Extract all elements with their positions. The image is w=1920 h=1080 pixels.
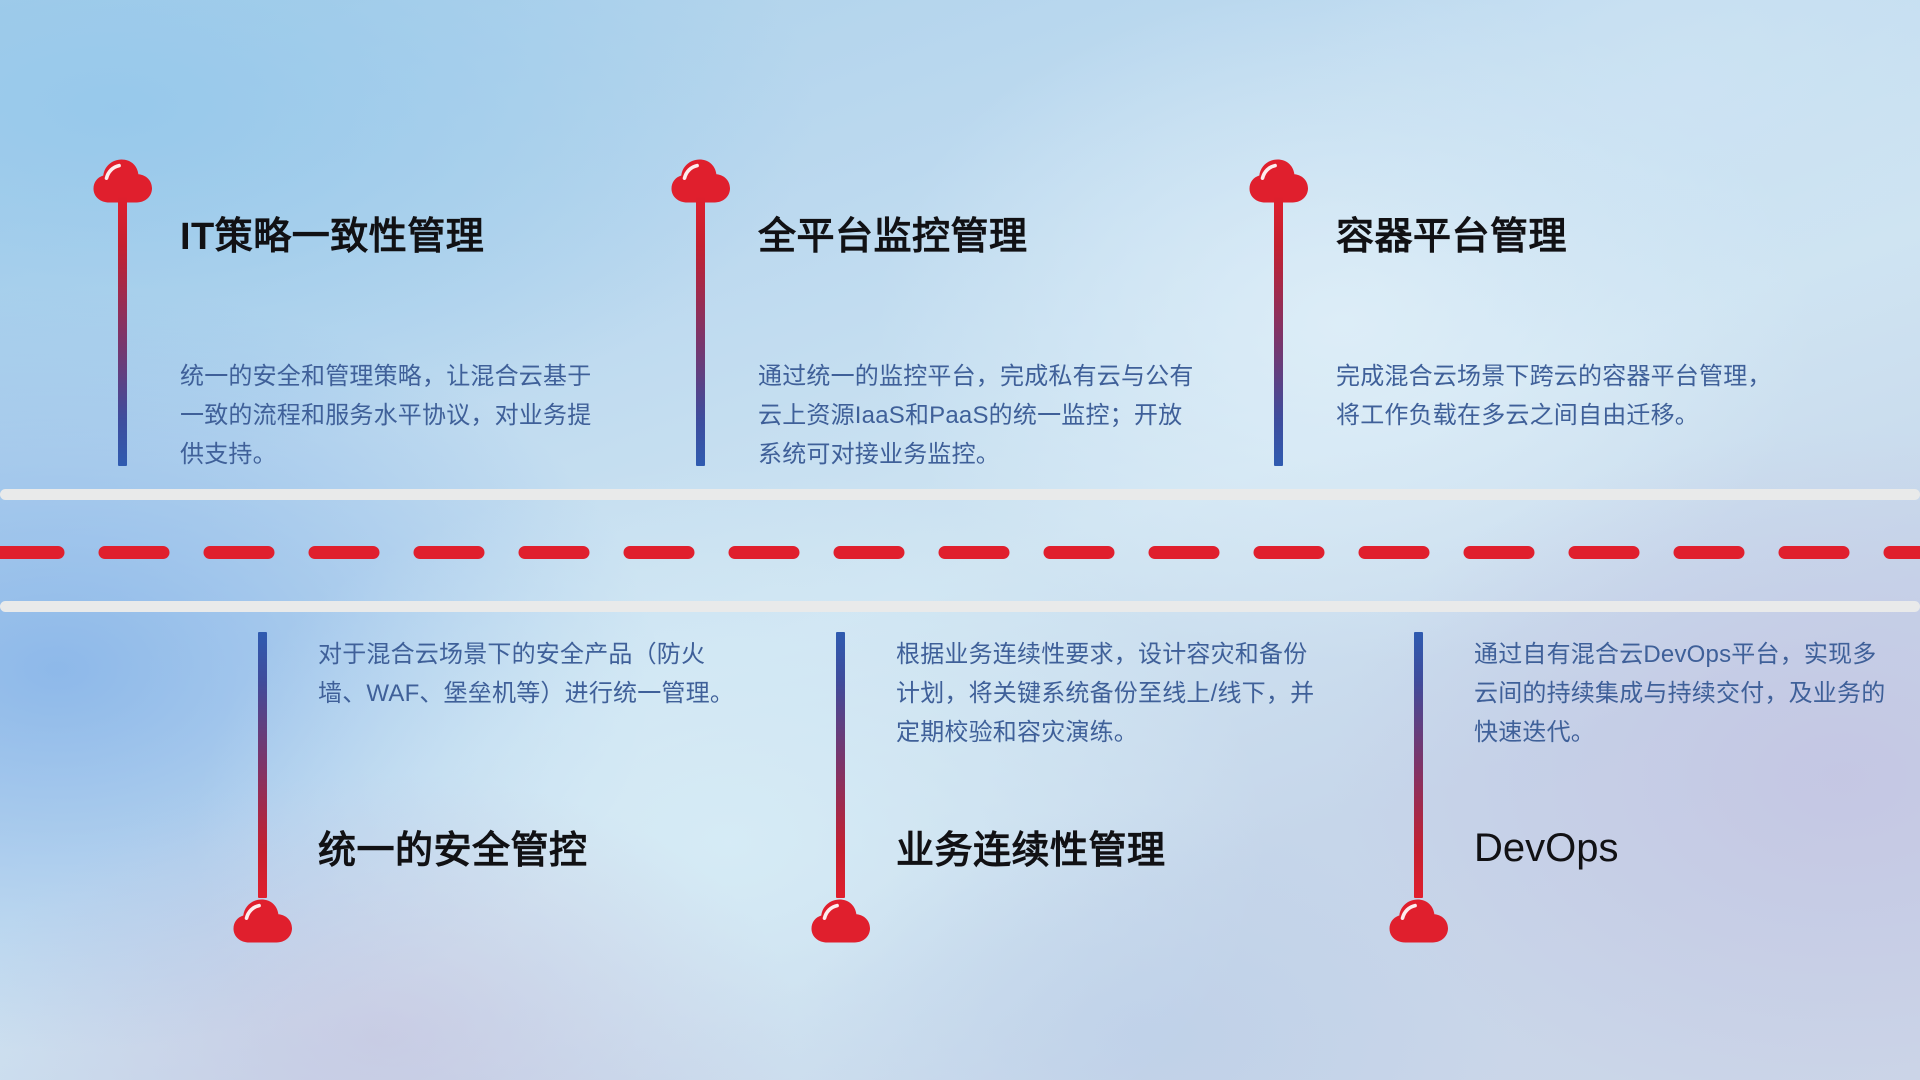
- card-description: 完成混合云场景下跨云的容器平台管理，将工作负载在多云之间自由迁移。: [1336, 358, 1776, 436]
- divider-dashed-line: [0, 545, 1920, 560]
- card-title: 全平台监控管理: [758, 218, 1028, 256]
- cloud-icon: [810, 898, 872, 944]
- card-title: 容器平台管理: [1336, 218, 1567, 256]
- connector-stem: [258, 632, 267, 898]
- card-description: 对于混合云场景下的安全产品（防火墙、WAF、堡垒机等）进行统一管理。: [318, 636, 738, 714]
- divider-rail-upper: [0, 489, 1920, 500]
- infographic-stage: IT策略一致性管理 统一的安全和管理策略，让混合云基于一致的流程和服务水平协议，…: [0, 0, 1920, 1080]
- cloud-icon: [1388, 898, 1450, 944]
- card-description: 通过自有混合云DevOps平台，实现多云间的持续集成与持续交付，及业务的快速迭代…: [1474, 636, 1894, 753]
- divider-rail-lower: [0, 601, 1920, 612]
- card-title: DevOps: [1474, 828, 1619, 868]
- connector-stem: [118, 196, 127, 466]
- card-description: 通过统一的监控平台，完成私有云与公有云上资源IaaS和PaaS的统一监控；开放系…: [758, 358, 1198, 475]
- card-description: 统一的安全和管理策略，让混合云基于一致的流程和服务水平协议，对业务提供支持。: [180, 358, 600, 475]
- card-title: IT策略一致性管理: [180, 218, 484, 256]
- card-title: 业务连续性管理: [896, 832, 1166, 870]
- connector-stem: [696, 196, 705, 466]
- card-title: 统一的安全管控: [318, 832, 588, 870]
- connector-stem: [1414, 632, 1423, 898]
- cloud-icon: [232, 898, 294, 944]
- connector-stem: [836, 632, 845, 898]
- card-description: 根据业务连续性要求，设计容灾和备份计划，将关键系统备份至线上/线下，并定期校验和…: [896, 636, 1326, 753]
- connector-stem: [1274, 196, 1283, 466]
